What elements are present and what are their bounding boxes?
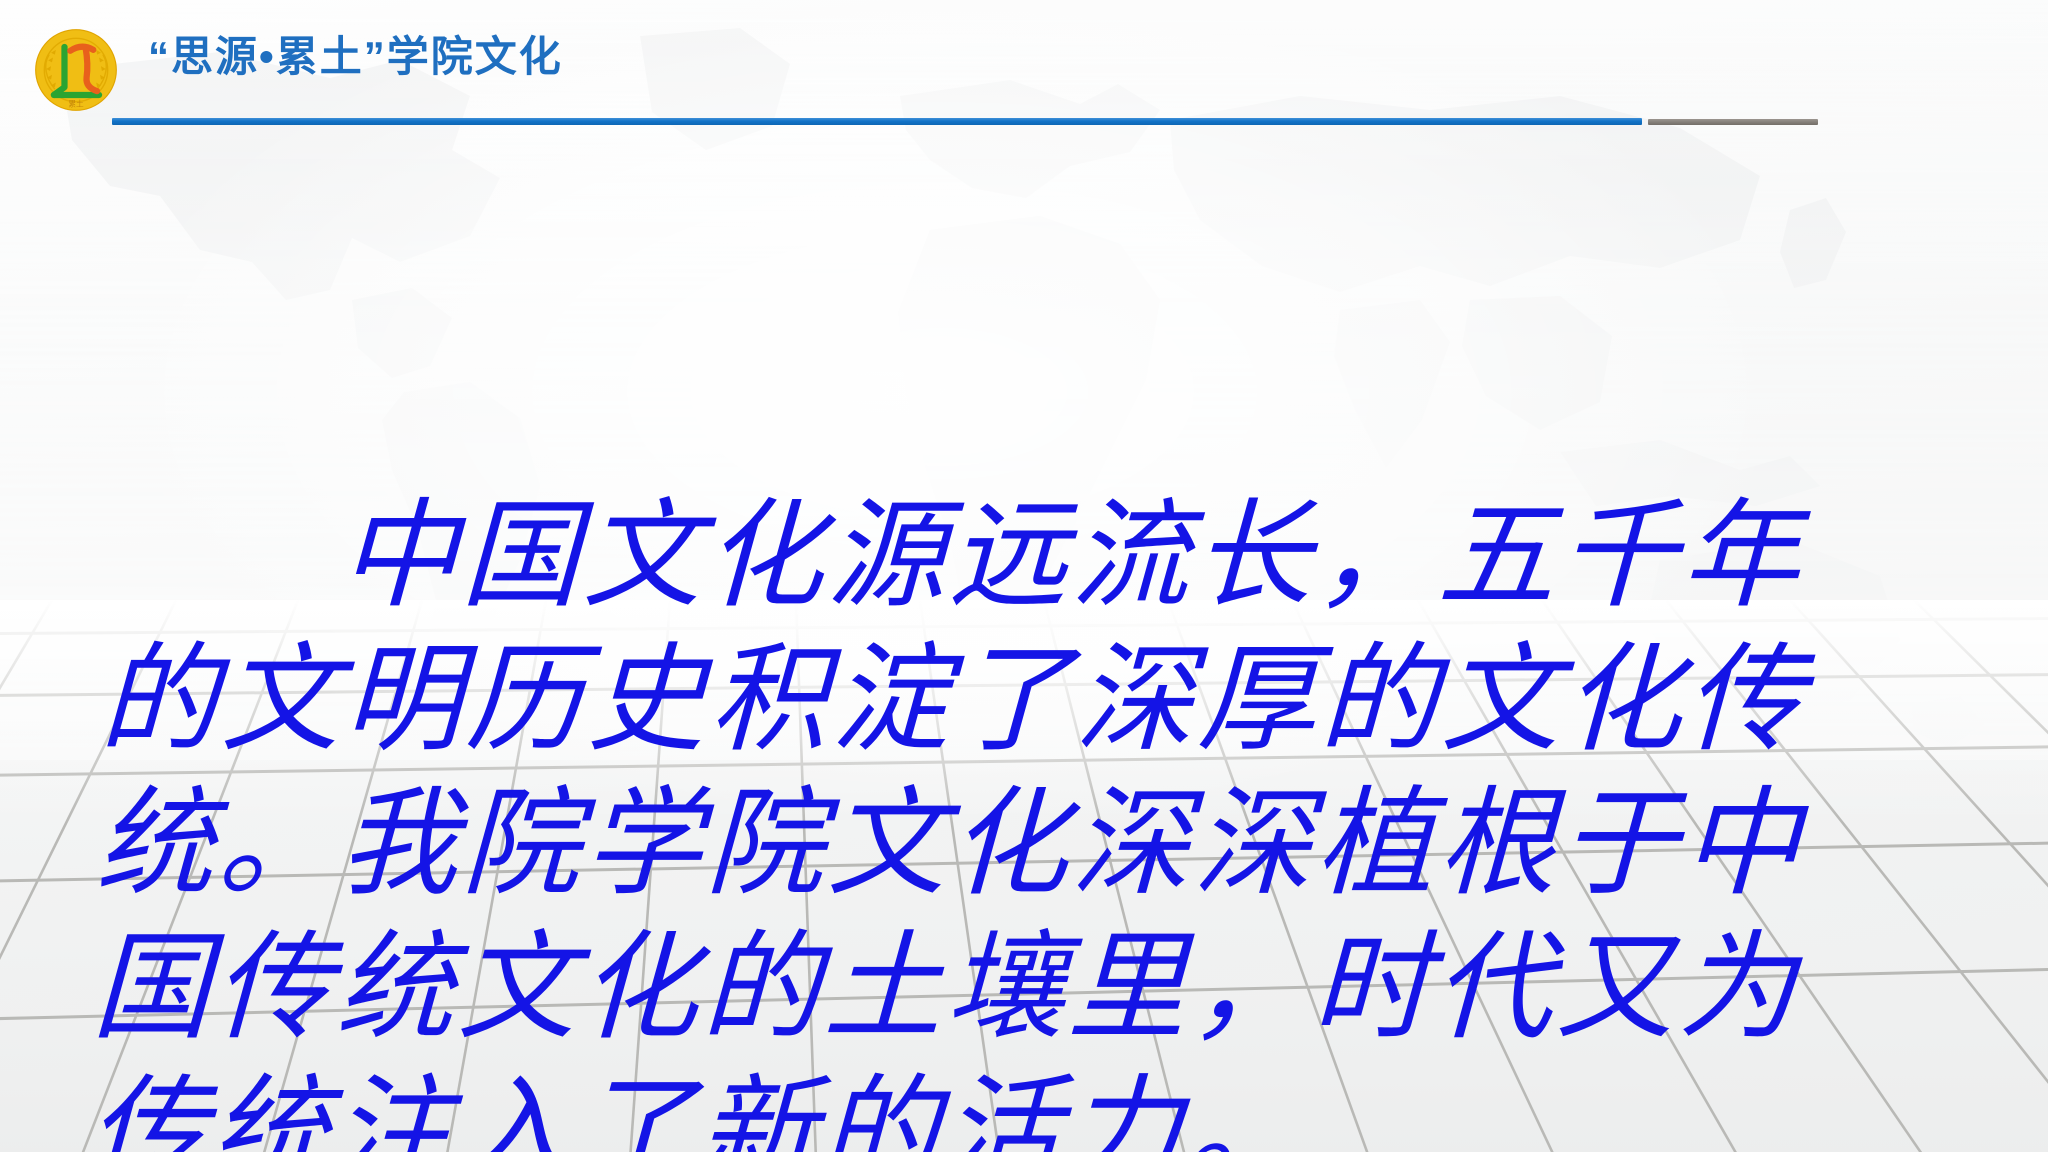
svg-text:累土: 累土	[68, 98, 84, 108]
header-divider	[0, 118, 2048, 128]
slide-body-text: 中国文化源远流长，五千年的文明历史积淀了深厚的文化传统。我院学院文化深深植根于中…	[79, 196, 1933, 1152]
header-divider-gray-segment	[1648, 119, 1818, 125]
page-title: “思源•累土”学院文化	[148, 36, 563, 78]
academy-emblem-icon: 累土	[28, 22, 124, 118]
slide-header: 累土 “思源•累土”学院文化	[0, 0, 2048, 140]
slide-root: 累土 “思源•累土”学院文化 中国文化源远流长，五千年的文明历史积淀了深厚的文化…	[0, 0, 2048, 1152]
body-paragraph: 中国文化源远流长，五千年的文明历史积淀了深厚的文化传统。我院学院文化深深植根于中…	[87, 484, 1926, 1152]
header-divider-blue-segment	[112, 118, 1642, 125]
